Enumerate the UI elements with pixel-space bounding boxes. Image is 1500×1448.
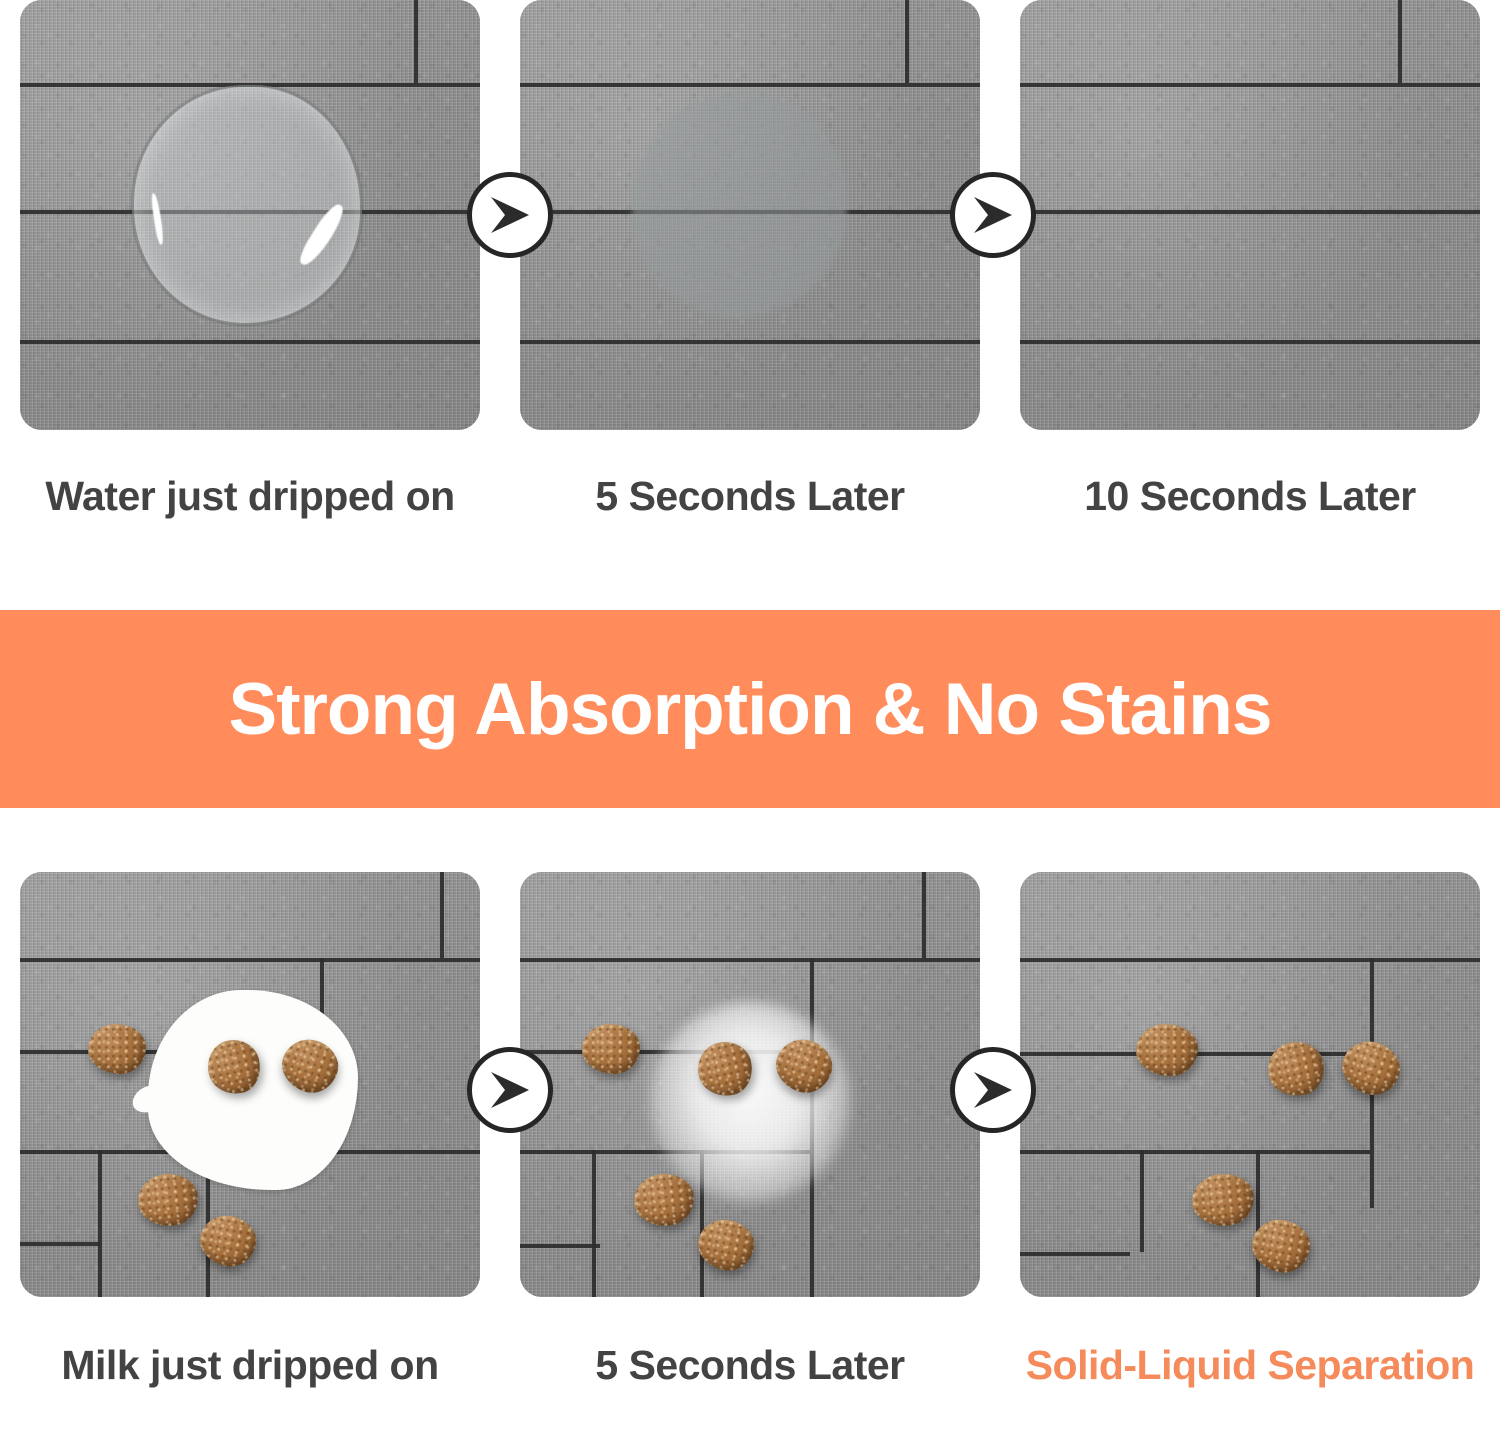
grout-line-vertical [905, 0, 909, 83]
milk-residue [650, 1002, 850, 1202]
mat-texture [1020, 872, 1480, 1297]
milk-panel-2-slot [500, 872, 1000, 1297]
water-panel-3-slot [1000, 0, 1500, 430]
caption-milk-panel-3: Solid-Liquid Separation [1000, 1337, 1500, 1394]
grout-line-vertical [922, 872, 926, 958]
water-droplet [132, 85, 362, 325]
grout-line-horizontal [1020, 958, 1480, 962]
arrow-right-icon [467, 172, 553, 258]
grout-line-vertical [1398, 0, 1402, 83]
milk-spill [148, 990, 358, 1190]
water-panel-1-photo [20, 0, 480, 430]
product-infographic: Water just dripped on 5 Seconds Later 10… [0, 0, 1500, 1448]
grout-line-horizontal [1020, 1150, 1370, 1154]
water-panel-1-slot [0, 0, 500, 430]
droplet-highlight [151, 193, 165, 245]
caption-water-panel-1: Water just dripped on [0, 468, 500, 525]
kibble-piece [582, 1024, 640, 1074]
milk-sequence-captions: Milk just dripped on 5 Seconds Later Sol… [0, 1337, 1500, 1394]
caption-milk-panel-1: Milk just dripped on [0, 1337, 500, 1394]
milk-panel-3-slot [1000, 872, 1500, 1297]
grout-line-horizontal [520, 340, 980, 344]
grout-line-horizontal [20, 1242, 100, 1246]
caption-water-panel-2: 5 Seconds Later [500, 468, 1000, 525]
grout-line-horizontal [1020, 83, 1480, 87]
milk-panel-3-photo [1020, 872, 1480, 1297]
damp-patch [632, 92, 847, 317]
water-panel-2-slot [500, 0, 1000, 430]
headline-text: Strong Absorption & No Stains [229, 668, 1272, 751]
grout-line-horizontal [520, 1244, 600, 1248]
mat-texture [1020, 0, 1480, 430]
grout-line-horizontal [1020, 340, 1480, 344]
grout-line-vertical [1140, 1150, 1144, 1252]
grout-line-horizontal [1020, 210, 1480, 214]
kibble-piece [88, 1024, 146, 1074]
grout-line-vertical [414, 0, 418, 83]
grout-line-vertical [98, 1150, 102, 1297]
headline-banner: Strong Absorption & No Stains [0, 610, 1500, 808]
grout-line-horizontal [520, 958, 980, 962]
grout-line-horizontal [20, 958, 480, 962]
grout-line-horizontal [1020, 1252, 1130, 1256]
milk-panel-1-slot [0, 872, 500, 1297]
droplet-highlight [295, 201, 347, 270]
grout-line-vertical [1256, 1150, 1260, 1297]
milk-sequence-photo-row [0, 872, 1500, 1297]
grout-line-horizontal [20, 340, 480, 344]
kibble-piece [1136, 1024, 1198, 1076]
arrow-right-icon [950, 1047, 1036, 1133]
milk-panel-2-photo [520, 872, 980, 1297]
arrow-right-icon [950, 172, 1036, 258]
grout-line-vertical [592, 1150, 596, 1297]
grout-line-vertical [440, 872, 444, 958]
milk-panel-1-photo [20, 872, 480, 1297]
grout-line-horizontal [520, 83, 980, 87]
water-panel-2-photo [520, 0, 980, 430]
water-panel-3-photo [1020, 0, 1480, 430]
arrow-right-icon [467, 1047, 553, 1133]
water-sequence-captions: Water just dripped on 5 Seconds Later 10… [0, 468, 1500, 525]
water-sequence-photo-row [0, 0, 1500, 430]
caption-water-panel-3: 10 Seconds Later [1000, 468, 1500, 525]
caption-milk-panel-2: 5 Seconds Later [500, 1337, 1000, 1394]
